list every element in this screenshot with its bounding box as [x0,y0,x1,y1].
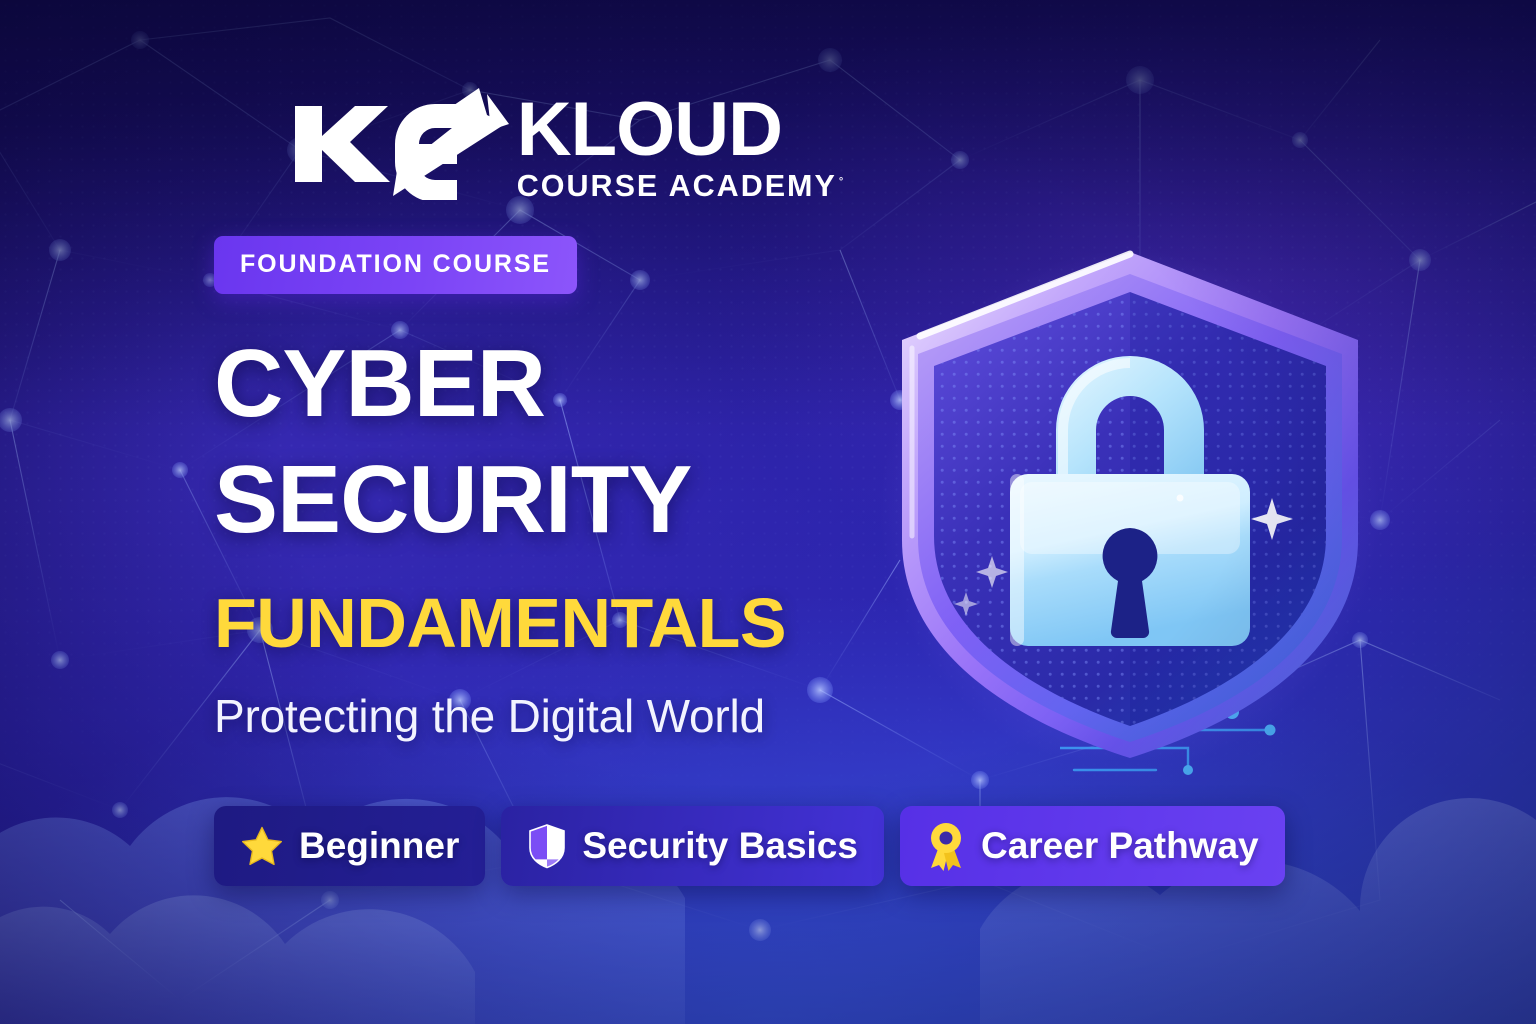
star-icon [240,824,284,868]
feature-pill-list: Beginner Security Basics Career Pathway [214,806,1285,886]
shield-icon [527,823,567,869]
medal-icon [926,821,966,871]
headline-line-2: SECURITY [214,454,691,546]
feature-pill-label: Career Pathway [981,825,1259,867]
feature-pill-label: Security Basics [582,825,858,867]
feature-pill-beginner[interactable]: Beginner [214,806,485,886]
course-promo-banner: KLOUD COURSE ACADEMY° FOUNDATION COURSE … [0,0,1536,1024]
tagline: Protecting the Digital World [214,692,765,740]
feature-pill-label: Beginner [299,825,459,867]
feature-pill-career-pathway[interactable]: Career Pathway [900,806,1285,886]
foundation-course-badge: FOUNDATION COURSE [214,236,577,294]
headline-line-1: CYBER [214,338,545,430]
feature-pill-security-basics[interactable]: Security Basics [501,806,884,886]
headline-accent: FUNDAMENTALS [214,588,786,658]
